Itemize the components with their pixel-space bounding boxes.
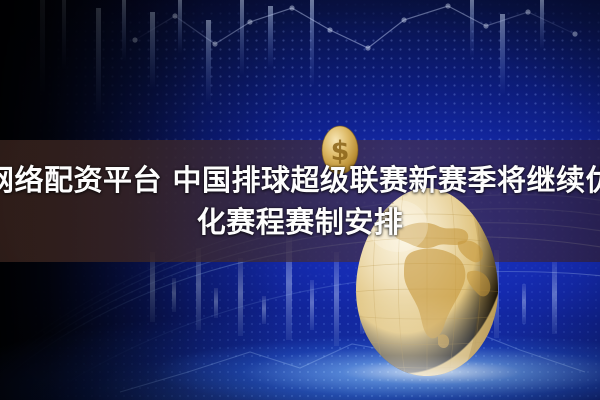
- headline-line-1: 网络配资平台 中国排球超级联赛新赛季将继续优: [0, 160, 600, 200]
- headline: 网络配资平台 中国排球超级联赛新赛季将继续优 化赛程赛制安排: [0, 140, 600, 262]
- headline-line-2: 化赛程赛制安排: [197, 202, 404, 242]
- banner-image: $: [0, 0, 600, 400]
